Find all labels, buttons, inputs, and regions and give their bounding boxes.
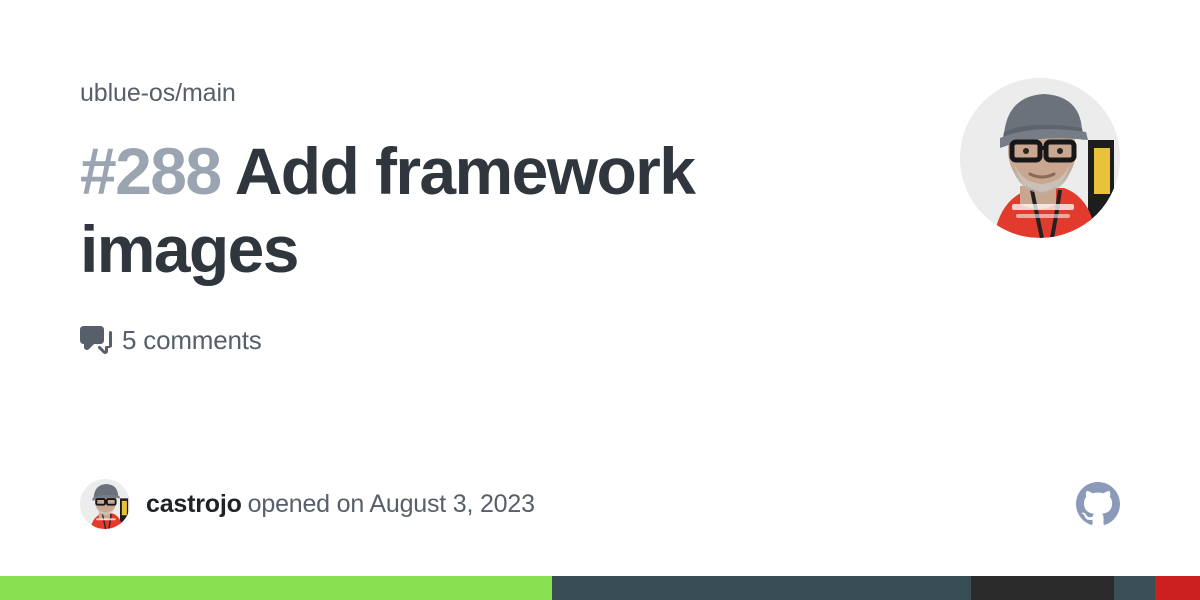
- dockerfile-segment-2: [1114, 576, 1155, 600]
- page-title: #288 Add framework images: [80, 132, 780, 288]
- attribution-row: castrojoopened on August 3, 2023: [80, 479, 535, 529]
- just-segment: [971, 576, 1114, 600]
- issue-social-card: ublue-os/main #288 Add framework images: [0, 0, 1200, 600]
- comment-discussion-icon: [80, 324, 112, 356]
- opened-on-text: opened on August 3, 2023: [248, 490, 535, 518]
- author-avatar: [80, 479, 130, 529]
- comments-count-label: 5 comments: [122, 325, 262, 356]
- header-text-block: ublue-os/main #288 Add framework images: [80, 78, 780, 288]
- card-header: ublue-os/main #288 Add framework images: [80, 78, 1120, 288]
- card-footer: castrojoopened on August 3, 2023: [80, 478, 1120, 530]
- language-bar: [0, 576, 1200, 600]
- issue-number: #288: [80, 134, 220, 208]
- author-username: castrojo: [146, 490, 242, 518]
- repository-name: ublue-os/main: [80, 78, 780, 108]
- avatar: [960, 78, 1120, 238]
- red-segment: [1155, 576, 1200, 600]
- comments-row: 5 comments: [80, 324, 262, 356]
- github-mark-icon: [1076, 482, 1120, 526]
- shell-segment: [0, 576, 552, 600]
- dockerfile-segment: [552, 576, 971, 600]
- attribution-text: castrojoopened on August 3, 2023: [146, 490, 535, 519]
